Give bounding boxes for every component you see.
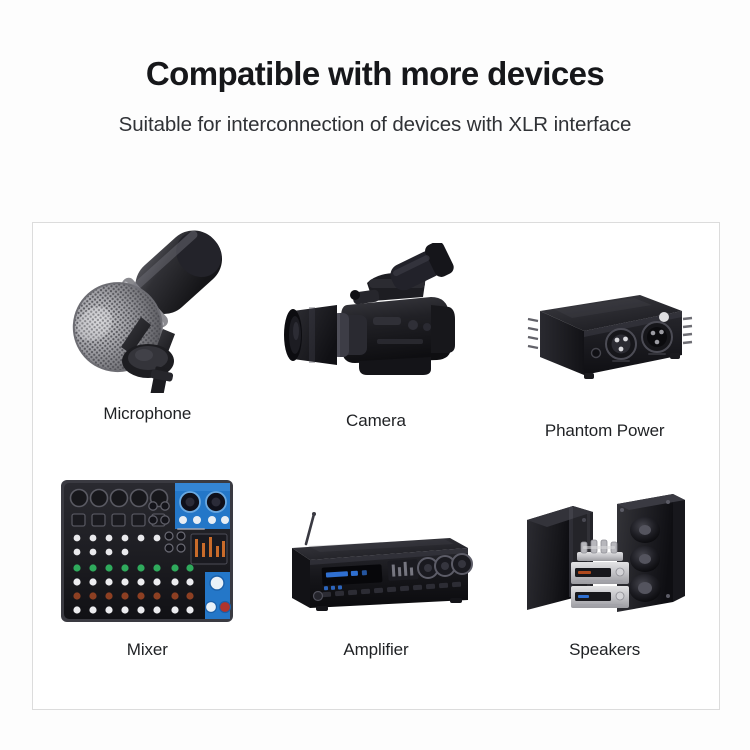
device-image-speakers [490,466,719,626]
device-cell-speakers[interactable]: Speakers [490,466,719,709]
device-cell-camera[interactable]: Camera [262,223,491,466]
compatibility-page: Compatible with more devices Suitable fo… [0,0,750,750]
device-label-microphone: Microphone [103,404,191,424]
speakers-icon [521,486,689,626]
device-image-camera [262,223,491,397]
device-label-amplifier: Amplifier [343,640,408,660]
page-title: Compatible with more devices [0,56,750,92]
device-image-amplifier [262,466,491,626]
xlr-female-connector [642,322,672,352]
phantom-power-icon [514,281,696,393]
microphone-icon [45,221,250,393]
device-label-mixer: Mixer [127,640,168,660]
amplifier-icon [278,508,474,626]
device-grid: Microphone [33,223,719,709]
device-image-mixer [33,466,262,626]
device-label-phantom-power: Phantom Power [545,421,665,441]
device-image-phantom-power [490,223,719,397]
device-cell-mixer[interactable]: Mixer [33,466,262,709]
device-cell-microphone[interactable]: Microphone [33,223,262,466]
page-subtitle: Suitable for interconnection of devices … [0,113,750,138]
audio-mixer-icon [57,476,237,626]
device-cell-phantom-power[interactable]: Phantom Power [490,223,719,466]
device-cell-amplifier[interactable]: Amplifier [262,466,491,709]
device-image-microphone [33,223,262,397]
device-label-speakers: Speakers [569,640,640,660]
xlr-male-connector [606,329,636,359]
page-header: Compatible with more devices Suitable fo… [0,0,750,138]
device-compatibility-card: Microphone [32,222,720,710]
camcorder-icon [281,243,471,393]
device-label-camera: Camera [346,411,406,431]
